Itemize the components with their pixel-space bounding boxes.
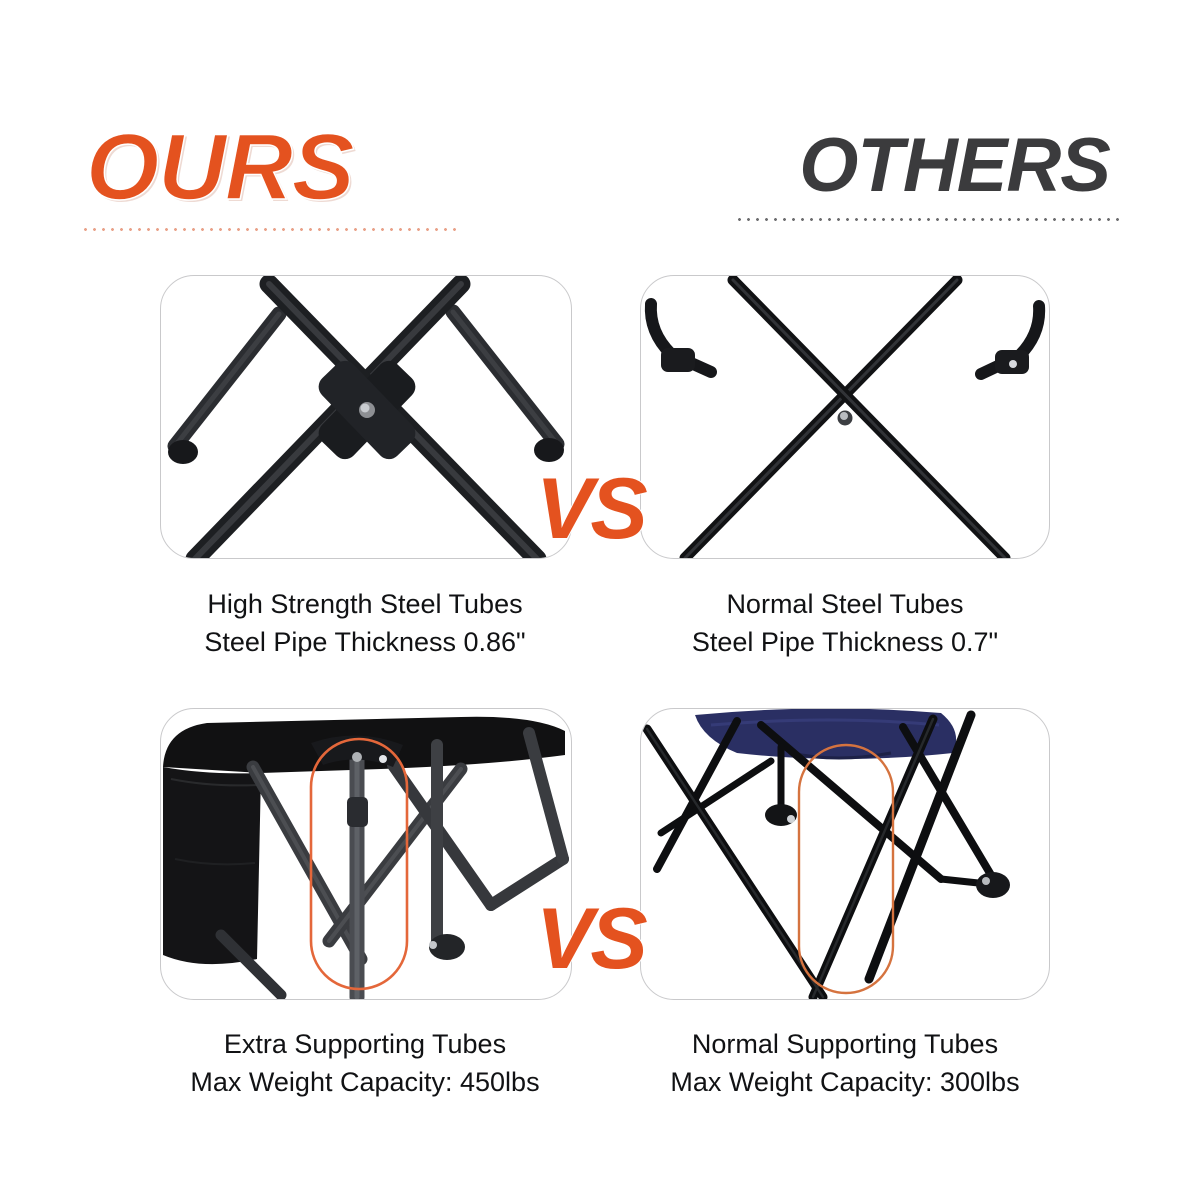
others-steel-tube-caption: Normal Steel Tubes Steel Pipe Thickness … (620, 585, 1070, 662)
vs-badge-bottom: VS (536, 896, 645, 982)
others-heading-underline (738, 218, 1120, 221)
vs-badge-top: VS (536, 466, 645, 552)
ours-heading-underline (84, 228, 462, 231)
ours-supporting-tube-caption: Extra Supporting Tubes Max Weight Capaci… (140, 1025, 590, 1102)
thin-steel-cross-frame-illustration (641, 276, 1049, 558)
ours-steel-caption-line2: Steel Pipe Thickness 0.86" (140, 623, 590, 661)
black-chair-with-center-support-tube-illustration (161, 709, 571, 999)
ours-steel-tube-photo (160, 275, 572, 559)
others-supporting-tube-caption: Normal Supporting Tubes Max Weight Capac… (620, 1025, 1070, 1102)
heavy-duty-steel-cross-frame-illustration (161, 276, 571, 558)
others-support-caption-line2: Max Weight Capacity: 300lbs (620, 1063, 1070, 1101)
comparison-infographic: OURS OTHERS (0, 0, 1200, 1200)
foot-joints (429, 934, 465, 960)
others-steel-caption-line1: Normal Steel Tubes (726, 589, 963, 619)
others-support-caption-line1: Normal Supporting Tubes (692, 1029, 998, 1059)
others-steel-tube-photo (640, 275, 1050, 559)
center-rivet (838, 411, 853, 426)
ours-heading: OURS (78, 120, 498, 231)
others-heading-text: OTHERS (700, 128, 1120, 204)
others-supporting-tube-photo (640, 708, 1050, 1000)
ours-steel-tube-caption: High Strength Steel Tubes Steel Pipe Thi… (140, 585, 590, 662)
blue-chair-without-center-support-tube-illustration (641, 709, 1049, 999)
ours-supporting-tube-photo (160, 708, 572, 1000)
ours-support-caption-line2: Max Weight Capacity: 450lbs (140, 1063, 590, 1101)
ours-support-caption-line1: Extra Supporting Tubes (224, 1029, 506, 1059)
others-heading: OTHERS (700, 128, 1120, 221)
ours-steel-caption-line1: High Strength Steel Tubes (207, 589, 522, 619)
ours-heading-text: OURS (78, 120, 498, 214)
others-steel-caption-line2: Steel Pipe Thickness 0.7" (620, 623, 1070, 661)
